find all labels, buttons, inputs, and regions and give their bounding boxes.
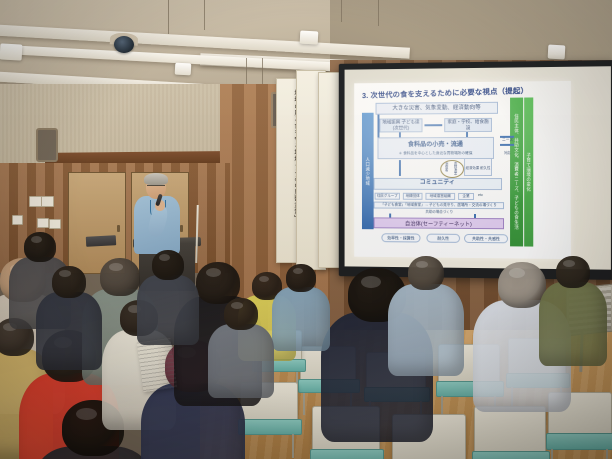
slide-tag: 地縁団体 bbox=[403, 193, 423, 200]
hair-highlight bbox=[59, 270, 71, 277]
suspension-wire bbox=[378, 0, 379, 26]
person-torso bbox=[137, 275, 199, 345]
slide-box-left: 地域振興 子ども達(次世代) bbox=[379, 118, 422, 132]
screen-surface: 3. 次世代の食を支えるために必要な視点（提起） 人口減少地域 住民主体、共助文… bbox=[345, 66, 611, 269]
arrow-icon bbox=[500, 144, 514, 146]
chair-seat bbox=[310, 449, 384, 459]
person-torso bbox=[36, 292, 102, 370]
slide-oval-label-2: 農林漁業 bbox=[453, 162, 458, 175]
slide-tag: 地域運営組織 bbox=[425, 193, 455, 200]
hair-highlight bbox=[159, 254, 170, 261]
suspension-wire bbox=[168, 0, 169, 34]
slide-tag: 企業 bbox=[458, 193, 474, 200]
suspension-wire bbox=[262, 58, 263, 84]
slide-bottom-box: 共助性・共感性 bbox=[464, 234, 508, 243]
hair-highlight bbox=[206, 268, 221, 277]
chair-leg bbox=[292, 434, 294, 458]
slide-right-vertical-bar: 住民主体、共助文化、消費者ニーズ、子どもの食生活 bbox=[510, 98, 523, 247]
presenter-hair bbox=[144, 173, 168, 185]
light-switch[interactable] bbox=[41, 196, 54, 207]
arrow-icon bbox=[399, 160, 401, 176]
hair-highlight bbox=[109, 263, 123, 271]
slide-eco-box: 経済効果 耐久性 bbox=[464, 158, 492, 176]
chair-leg bbox=[606, 449, 608, 459]
slide-left-vertical-bar: 人口減少地域 bbox=[362, 113, 374, 229]
arrow-icon bbox=[500, 136, 514, 138]
person-torso bbox=[208, 324, 274, 398]
door-handle-icon bbox=[180, 225, 183, 232]
slide-bottom-box: 効率性・採算性 bbox=[381, 233, 420, 242]
slide-tag-etc: etc bbox=[478, 193, 483, 197]
hair-highlight bbox=[76, 408, 97, 420]
arrow-icon bbox=[424, 124, 442, 126]
chair-seat bbox=[238, 419, 302, 435]
lecture-hall-photo: 「地域の農と食を守る地域ぐるみの鳥獣対策」 中山間地域研究センターからの報告 「… bbox=[0, 0, 612, 459]
slide-purple-box: 自治体(セーフティーネット) bbox=[374, 217, 504, 229]
slide-box-middle: 食料品の小売・流通 ＊ 食料品を中心とした身近な買物場所の確保 bbox=[377, 137, 493, 159]
slide-needs-sub: 対応 bbox=[504, 150, 510, 155]
light-mount bbox=[300, 31, 319, 45]
projection-screen: 3. 次世代の食を支えるために必要な視点（提起） 人口減少地域 住民主体、共助文… bbox=[339, 60, 612, 280]
glasses-icon bbox=[147, 185, 165, 190]
light-switch[interactable] bbox=[37, 218, 49, 228]
hair-highlight bbox=[293, 268, 303, 274]
chair-leg bbox=[303, 393, 305, 415]
presentation-slide: 3. 次世代の食を支えるために必要な視点（提起） 人口減少地域 住民主体、共助文… bbox=[354, 81, 571, 259]
hair-highlight bbox=[31, 236, 42, 243]
wall-vent bbox=[36, 128, 58, 162]
person-torso bbox=[272, 287, 330, 351]
slide-middle-heading: 食料品の小売・流通 bbox=[408, 141, 463, 149]
hair-highlight bbox=[361, 276, 381, 288]
chair-seat bbox=[472, 451, 550, 459]
person-torso bbox=[539, 282, 607, 366]
slide-needs-label: ニーズ bbox=[502, 138, 513, 143]
chair-back bbox=[474, 406, 546, 456]
suspension-wire bbox=[341, 0, 342, 22]
light-mount bbox=[175, 63, 192, 76]
slide-activity-line: 「子ども食堂」「地域食堂」→ 子どもの見守り、居場所・交流の場づくり bbox=[374, 202, 504, 210]
person-torso bbox=[388, 284, 464, 376]
chair-leg bbox=[551, 449, 553, 459]
light-mount bbox=[0, 43, 22, 60]
hair-highlight bbox=[259, 276, 269, 282]
slide-bottom-box: 耐久性 bbox=[426, 234, 460, 243]
hair-highlight bbox=[563, 260, 575, 267]
laptop bbox=[86, 235, 116, 247]
light-switch[interactable] bbox=[49, 219, 61, 229]
slide-box-top: 大きな災害、気象変動、経済動向等 bbox=[376, 102, 498, 115]
slide-oval-label-1: 消費者 bbox=[444, 162, 449, 172]
suspension-wire bbox=[204, 0, 205, 30]
light-mount bbox=[548, 45, 566, 60]
slide-middle-note: ＊ 食料品を中心とした身近な買物場所の確保 bbox=[399, 151, 473, 156]
slide-box-right: 家庭・学校、給食施設 bbox=[444, 118, 492, 132]
slide-right-vertical-bar-2: 子育て環境の変化 bbox=[524, 97, 533, 246]
handout-paper bbox=[137, 338, 178, 392]
slide-tag: 住民グループ bbox=[375, 193, 400, 200]
door-handle-icon bbox=[117, 225, 120, 232]
hair-highlight bbox=[231, 302, 243, 309]
chair-seat bbox=[546, 433, 612, 450]
light-switch[interactable] bbox=[12, 215, 23, 225]
hair-highlight bbox=[509, 268, 525, 278]
hair-highlight bbox=[416, 261, 428, 268]
slide-community-heading: コミュニティ bbox=[374, 178, 502, 190]
slide-activity-sub: 共助の場合づくり bbox=[399, 210, 480, 215]
